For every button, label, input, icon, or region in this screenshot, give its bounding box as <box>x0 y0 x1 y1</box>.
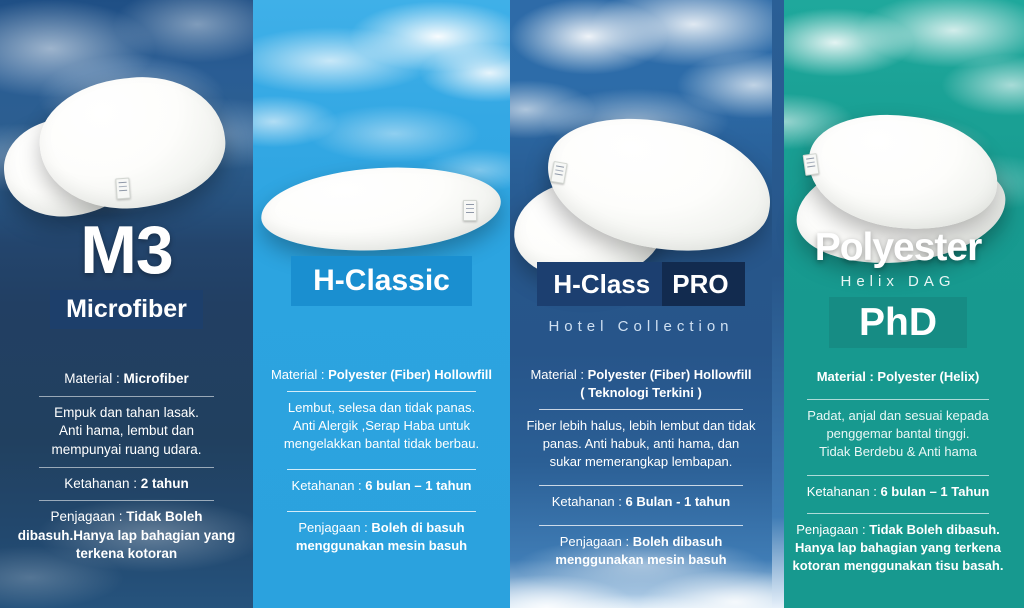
pillow-brand-tag <box>463 200 477 221</box>
product-panel-h-class-pro[interactable]: H-ClassPRO Hotel Collection Material : P… <box>510 0 772 608</box>
product-subtitle: Hotel Collection <box>510 318 772 335</box>
divider <box>39 467 215 468</box>
product-panel-h-classic[interactable]: H-Classic Material : Polyester (Fiber) H… <box>253 0 510 608</box>
spec-material-value: Polyester (Fiber) Hollowfill <box>588 367 752 382</box>
spec-durability-value: 2 tahun <box>141 476 189 491</box>
spec-material-value: Polyester (Helix) <box>877 369 979 384</box>
spec-care-label: Penjagaan : <box>50 509 122 524</box>
spec-durability-label: Ketahanan : <box>64 476 137 491</box>
spec-material-label: Material : <box>530 367 583 382</box>
desc-line: mengelakkan bantal tidak berbau. <box>263 435 500 453</box>
product-panel-m3-microfiber[interactable]: M3 Microfiber Material : Microfiber Empu… <box>0 0 253 608</box>
product-comparison-board: M3 Microfiber Material : Microfiber Empu… <box>0 0 1024 608</box>
divider <box>807 475 989 476</box>
product-chip-label: PhD <box>829 297 967 348</box>
pillow-image-h-classic <box>253 150 510 270</box>
spec-material-value: Polyester (Fiber) Hollowfill <box>328 367 492 382</box>
spec-care: Penjagaan : Boleh di basuh menggunakan m… <box>263 519 500 555</box>
spec-material-label: Material : <box>817 369 874 384</box>
product-title-suffix: PRO <box>662 262 744 306</box>
product-subtitle: Helix DAG <box>772 273 1024 290</box>
product-title-block-polyester-phd: Polyester Helix DAG PhD <box>772 228 1024 348</box>
spec-material: Material : Polyester (Fiber) Hollowfill <box>263 366 500 384</box>
divider <box>807 513 989 514</box>
spec-durability: Ketahanan : 6 bulan – 1 Tahun <box>784 483 1012 501</box>
spec-material: Material : Polyester (Helix) <box>784 368 1012 386</box>
desc-line: Padat, anjal dan sesuai kepada <box>784 407 1012 425</box>
spec-material: Material : Polyester (Fiber) Hollowfill … <box>520 366 762 402</box>
desc-line: Empuk dan tahan lasak. <box>14 404 239 423</box>
spec-durability: Ketahanan : 6 bulan – 1 tahun <box>263 477 500 495</box>
product-title: H-Class <box>537 262 662 306</box>
spec-description: Padat, anjal dan sesuai kepada penggemar… <box>784 407 1012 461</box>
desc-line: Anti hama, lembut dan <box>14 422 239 441</box>
spec-list-h-class-pro: Material : Polyester (Fiber) Hollowfill … <box>510 366 772 569</box>
spec-material: Material : Microfiber <box>14 370 239 389</box>
spec-description: Fiber lebih halus, lebih lembut dan tida… <box>520 417 762 471</box>
spec-material-value: Microfiber <box>124 371 189 386</box>
product-panel-polyester-phd[interactable]: Polyester Helix DAG PhD Material : Polye… <box>772 0 1024 608</box>
product-title: H-Classic <box>291 256 472 306</box>
desc-line: panas. Anti habuk, anti hama, dan <box>520 435 762 453</box>
product-chip-label: Microfiber <box>50 290 203 329</box>
divider <box>539 409 742 410</box>
product-title-block-h-class-pro: H-ClassPRO Hotel Collection <box>510 262 772 335</box>
spec-durability-value: 6 bulan – 1 tahun <box>365 478 471 493</box>
spec-care: Penjagaan : Boleh dibasuh menggunakan me… <box>520 533 762 569</box>
divider <box>39 396 215 397</box>
divider <box>287 391 477 392</box>
divider <box>39 500 215 501</box>
spec-list-m3: Material : Microfiber Empuk dan tahan la… <box>0 370 253 564</box>
desc-line: Tidak Berdebu & Anti hama <box>784 443 1012 461</box>
spec-durability-value: 6 bulan – 1 Tahun <box>880 484 989 499</box>
divider <box>539 525 742 526</box>
desc-line: Anti Alergik ,Serap Haba untuk <box>263 417 500 435</box>
spec-list-h-classic: Material : Polyester (Fiber) Hollowfill … <box>253 366 510 555</box>
spec-durability-label: Ketahanan : <box>292 478 362 493</box>
spec-durability-label: Ketahanan : <box>552 494 622 509</box>
pillow-brand-tag <box>115 178 130 200</box>
spec-list-polyester-phd: Material : Polyester (Helix) Padat, anja… <box>772 368 1024 575</box>
product-title: M3 <box>0 216 253 284</box>
spec-durability: Ketahanan : 2 tahun <box>14 475 239 494</box>
desc-line: Lembut, selesa dan tidak panas. <box>263 399 500 417</box>
spec-material-label: Material : <box>64 371 120 386</box>
spec-care-label: Penjagaan : <box>796 522 865 537</box>
pillow-image-h-class-pro <box>510 118 772 268</box>
divider <box>807 399 989 400</box>
spec-description: Lembut, selesa dan tidak panas. Anti Ale… <box>263 399 500 453</box>
spec-description: Empuk dan tahan lasak. Anti hama, lembut… <box>14 404 239 460</box>
divider <box>539 485 742 486</box>
spec-care-label: Penjagaan : <box>298 520 367 535</box>
divider <box>287 511 477 512</box>
spec-durability-value: 6 Bulan - 1 tahun <box>626 494 731 509</box>
desc-line: Fiber lebih halus, lebih lembut dan tida… <box>520 417 762 435</box>
product-title-block-h-classic: H-Classic <box>253 256 510 306</box>
pillow-brand-tag <box>803 153 820 176</box>
spec-care: Penjagaan : Tidak Boleh dibasuh.Hanya la… <box>14 508 239 564</box>
desc-line: mempunyai ruang udara. <box>14 441 239 460</box>
product-title: Polyester <box>772 228 1024 267</box>
divider <box>287 469 477 470</box>
desc-line: sukar memerangkap lembapan. <box>520 453 762 471</box>
desc-line: penggemar bantal tinggi. <box>784 425 1012 443</box>
spec-material-value-2: ( Teknologi Terkini ) <box>520 384 762 402</box>
product-title-block-m3: M3 Microfiber <box>0 216 253 329</box>
spec-care: Penjagaan : Tidak Boleh dibasuh. Hanya l… <box>784 521 1012 575</box>
spec-durability: Ketahanan : 6 Bulan - 1 tahun <box>520 493 762 511</box>
spec-material-label: Material : <box>271 367 324 382</box>
spec-durability-label: Ketahanan : <box>807 484 877 499</box>
spec-care-label: Penjagaan : <box>560 534 629 549</box>
